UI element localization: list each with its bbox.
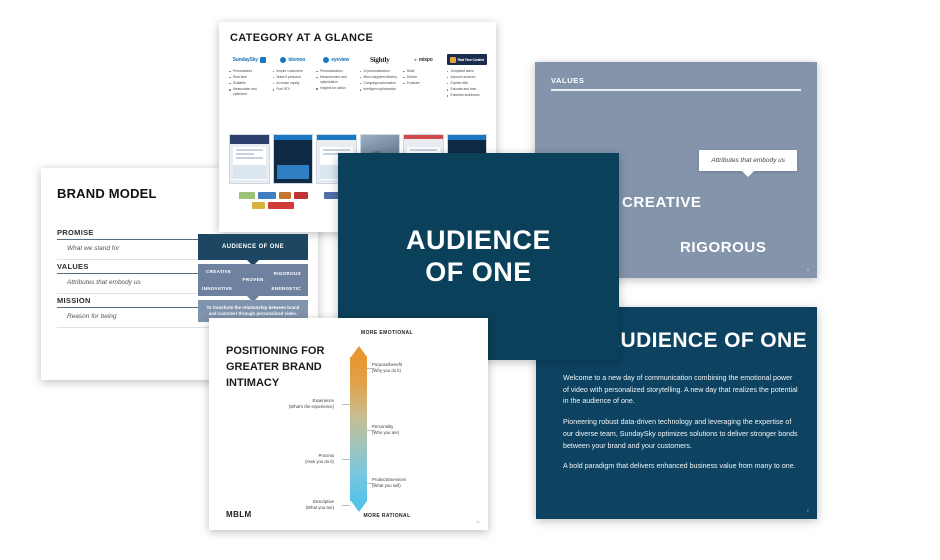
title-line-2: OF ONE: [338, 257, 619, 290]
category-title: CATEGORY AT A GLANCE: [230, 32, 373, 44]
value-word-rigorous: RIGOROUS: [680, 239, 766, 256]
level-purpose-benefit: Purpose/benefit (Why you do it): [372, 362, 402, 375]
value-rigorous: RIGOROUS: [274, 271, 301, 276]
values-callout: Attributes that embody us: [699, 150, 797, 171]
vendor-column: eyeview Personalization Measurement and …: [316, 54, 357, 100]
value-creative: CREATIVE: [206, 269, 231, 274]
bullet: Scalable: [229, 81, 270, 86]
mission-value: To transform the relationship between br…: [203, 305, 303, 316]
vendor-bullets: Personalized Real time Scalable Measurab…: [229, 69, 270, 98]
level-descriptive: Descriptive (What you are): [306, 499, 334, 512]
values-callout-text: Attributes that embody us: [711, 157, 785, 164]
bullet: Improve services: [447, 75, 488, 80]
vendor-column: Real Time Content Jumpstart sales Improv…: [447, 54, 488, 100]
vendor-column: ► mixpo Build Deliver Evaluate: [403, 54, 444, 100]
bullet: Campaign automation: [360, 81, 401, 86]
slide-positioning[interactable]: POSITIONING FOR GREATER BRAND INTIMACY M…: [209, 318, 488, 530]
title-line-1: AUDIENCE: [338, 224, 619, 257]
bullet: Personalization: [316, 69, 357, 74]
bullet: Micro-targeted delivery: [360, 75, 401, 80]
vendor-bullets: Personalization Measurement and optimiza…: [316, 69, 357, 91]
intro-paragraph: A bold paradigm that delivers enhanced b…: [563, 461, 799, 473]
bullet: Make it personal: [273, 75, 314, 80]
bullet: Entertain audiences: [447, 93, 488, 98]
mblm-logo: MBLM: [226, 510, 252, 519]
brand-model-diagram: AUDIENCE OF ONE CREATIVE RIGOROUS PROVEN…: [198, 234, 308, 322]
real-time-content-logo-icon: Real Time Content: [447, 54, 488, 65]
bullet: Deliver: [403, 75, 444, 80]
bullet: Explain bills: [447, 81, 488, 86]
intimacy-gradient-arrow-icon: [350, 346, 367, 512]
idomoo-logo-icon: idomoo: [273, 54, 314, 65]
vendor-bullets: Build Deliver Evaluate: [403, 69, 444, 86]
bullet: AI personalization: [360, 69, 401, 74]
level-experience: Experience (What's the experience): [289, 398, 334, 411]
values-box: CREATIVE RIGOROUS PROVEN INNOVATIVE ENER…: [198, 264, 308, 296]
axis-label-more-emotional: MORE EMOTIONAL: [332, 330, 442, 336]
brand-model-title: BRAND MODEL: [57, 186, 157, 201]
bullet: Personalized: [229, 69, 270, 74]
bullet: Inspire customers: [273, 69, 314, 74]
slide-collage: BRAND MODEL PROMISE What we stand for VA…: [0, 0, 940, 560]
bullet: Educate and train: [447, 87, 488, 92]
vendor-column: Sightly AI personalization Micro-targete…: [360, 54, 401, 100]
logo-group: [235, 192, 312, 209]
value-word-creative: CREATIVE: [622, 194, 702, 211]
bullet: Jumpstart sales: [447, 69, 488, 74]
vendor-column: SundaySky Personalized Real time Scalabl…: [229, 54, 270, 100]
positioning-title: POSITIONING FOR GREATER BRAND INTIMACY: [226, 344, 331, 392]
value-proven: PROVEN: [242, 277, 263, 282]
page-number: 9: [807, 267, 809, 272]
bullet: Fuel ROI: [273, 87, 314, 92]
sundaysky-logo-icon: SundaySky: [229, 54, 270, 65]
vendor-bullets: Inspire customers Make it personal Incre…: [273, 69, 314, 92]
level-products-services: Products/services (What you sell): [372, 477, 406, 490]
eyeview-logo-icon: eyeview: [316, 54, 357, 65]
vendor-bullets: Jumpstart sales Improve services Explain…: [447, 69, 488, 99]
value-energetic: ENERGETIC: [272, 286, 302, 291]
sightly-logo-icon: Sightly: [360, 54, 401, 65]
intro-paragraph: Welcome to a new day of communication co…: [563, 373, 799, 408]
vendor-bullets: AI personalization Micro-targeted delive…: [360, 69, 401, 92]
promise-value: AUDIENCE OF ONE: [222, 244, 284, 250]
vendor-columns: SundaySky Personalized Real time Scalabl…: [229, 54, 487, 100]
page-number: 11: [476, 519, 480, 524]
bullet: Increase loyalty: [273, 81, 314, 86]
level-personality: Personality (Who you are): [372, 424, 399, 437]
bullet: Measurement and optimization: [316, 75, 357, 85]
values-header: VALUES: [551, 76, 801, 91]
bullet: Insights for action: [316, 86, 357, 91]
bullet: Build: [403, 69, 444, 74]
thumbnail-image: [273, 134, 314, 184]
callout-tip-icon: [742, 171, 754, 177]
value-innovative: INNOVATIVE: [202, 286, 232, 291]
vendor-column: idomoo Inspire customers Make it persona…: [273, 54, 314, 100]
title-card-text: AUDIENCE OF ONE: [338, 224, 619, 290]
promise-box: AUDIENCE OF ONE: [198, 234, 308, 260]
axis-label-more-rational: MORE RATIONAL: [332, 513, 442, 519]
mixpo-logo-icon: ► mixpo: [403, 54, 444, 65]
intro-paragraph: Pioneering robust data-driven technology…: [563, 417, 799, 452]
intro-body: Welcome to a new day of communication co…: [563, 373, 799, 482]
level-process: Process (How you do it): [305, 453, 334, 466]
bullet: Evaluate: [403, 81, 444, 86]
values-header-label: VALUES: [551, 76, 801, 85]
bullet: Measurable and optimized: [229, 87, 270, 97]
page-number: 2: [807, 508, 809, 513]
bullet: Intelligent optimization: [360, 87, 401, 92]
divider: [551, 89, 801, 91]
thumbnail-image: [229, 134, 270, 184]
bullet: Real time: [229, 75, 270, 80]
